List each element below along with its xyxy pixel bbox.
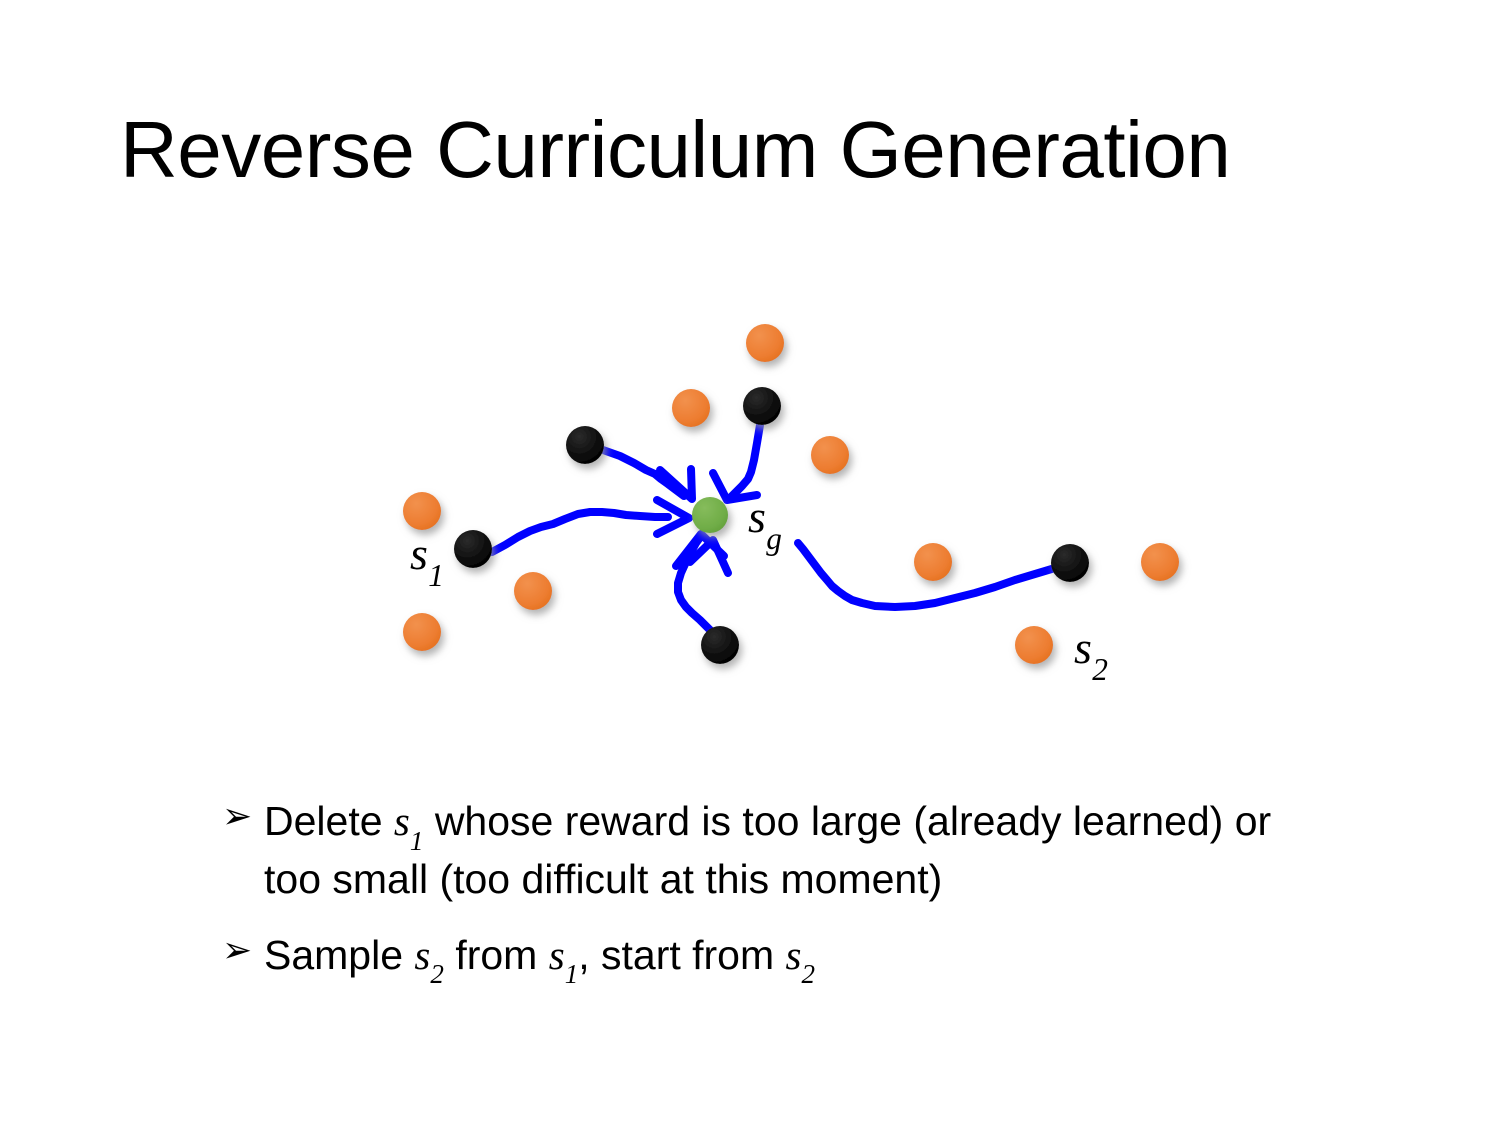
bullet-text-sample: Sample s2 from s1, start from s2 [264, 929, 1332, 987]
slide-canvas: Reverse Curriculum Generation [0, 0, 1500, 1125]
orange-state-dot [1141, 543, 1179, 581]
goal-state-node [692, 497, 728, 533]
label-s2: s2 [1074, 625, 1108, 678]
orange-state-dot [746, 324, 784, 362]
black-state-dot-upper-left [566, 426, 604, 464]
orange-state-dot [1015, 626, 1053, 664]
bullet-arrow-icon: ➢ [222, 795, 264, 839]
orange-state-dot [403, 492, 441, 530]
black-state-dot-s2 [1051, 544, 1089, 582]
bullet-list: ➢ Delete s1 whose reward is too large (a… [222, 795, 1332, 1009]
green-goal-dot [692, 497, 728, 533]
orange-state-dot [672, 389, 710, 427]
label-sg: sg [748, 494, 782, 547]
orange-state-dot [403, 613, 441, 651]
label-s1: s1 [410, 531, 444, 584]
black-state-dot-top [743, 387, 781, 425]
bullet-item-delete: ➢ Delete s1 whose reward is too large (a… [222, 795, 1332, 907]
black-state-dot-bottom [701, 626, 739, 664]
trajectory-from-top-black [731, 425, 760, 497]
orange-state-dot [514, 572, 552, 610]
orange-state-dot [811, 436, 849, 474]
black-state-dot-s1 [454, 530, 492, 568]
trajectory-from-s1 [492, 512, 668, 552]
bullet-item-sample: ➢ Sample s2 from s1, start from s2 [222, 929, 1332, 987]
orange-state-nodes [403, 324, 1179, 664]
trajectory-from-upper-left-black [603, 450, 684, 496]
orange-state-dot [914, 543, 952, 581]
bullet-arrow-icon: ➢ [222, 929, 264, 973]
bullet-text-delete: Delete s1 whose reward is too large (alr… [264, 795, 1332, 907]
